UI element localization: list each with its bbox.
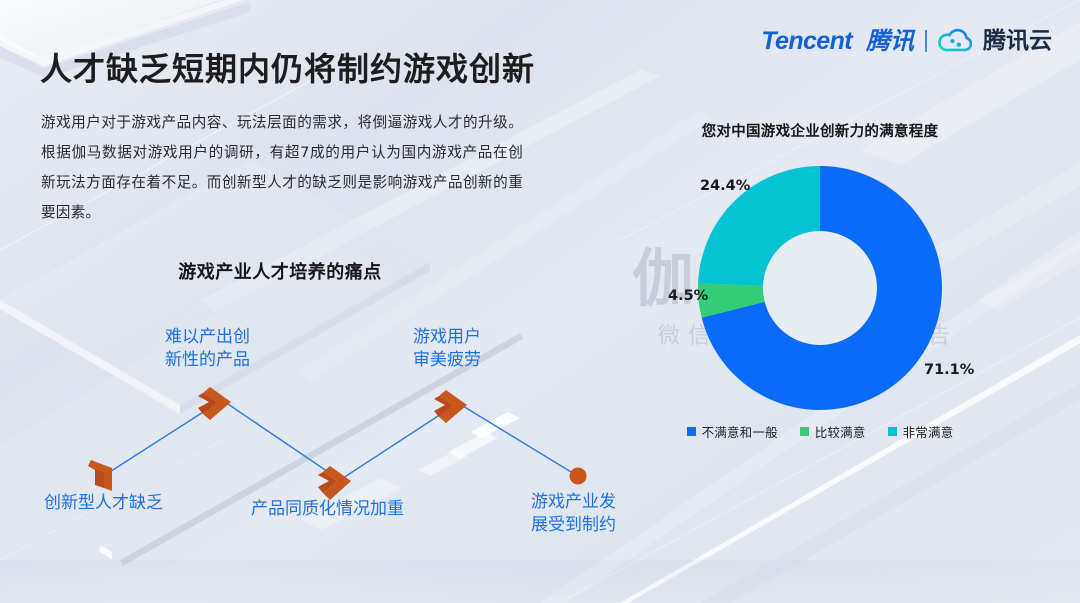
donut-value-label-1: 71.1%	[924, 362, 974, 378]
donut-value-label-3: 24.4%	[700, 178, 750, 194]
cloud-icon-svg	[938, 28, 972, 54]
tencent-cloud-wordmark-cn: 腾讯云	[983, 30, 1052, 53]
flow-node-marker-1	[88, 460, 112, 491]
brand-logo-bar: Tencent 腾讯 腾讯云	[761, 26, 1052, 56]
legend-label: 非常满意	[903, 422, 954, 441]
article-body: 游戏用户对于游戏产品内容、玩法层面的需求，将倒逼游戏人才的升级。根据伽马数据对游…	[41, 108, 523, 228]
tencent-wordmark-cn: 腾讯	[866, 29, 914, 53]
donut-hole	[763, 231, 877, 345]
flow-label-2: 难以产出创 新性的产品	[165, 326, 250, 372]
cloud-icon	[938, 28, 972, 54]
legend-item[interactable]: 非常满意	[888, 422, 954, 441]
flow-diagram-title: 游戏产业人才培养的痛点	[0, 258, 560, 284]
flow-node-marker-5	[570, 468, 587, 485]
flow-label-3: 产品同质化情况加重	[251, 498, 404, 521]
flow-node-marker-4	[434, 390, 467, 423]
logo-divider	[925, 30, 927, 52]
legend-item[interactable]: 不满意和一般	[687, 422, 778, 441]
tencent-wordmark: Tencent	[761, 29, 852, 54]
legend-label: 不满意和一般	[702, 422, 778, 441]
slide-root: Tencent 腾讯 腾讯云 人才缺乏短期内仍将制约游戏创新 游戏用户对于游戏产…	[0, 0, 1080, 603]
page-title: 人才缺乏短期内仍将制约游戏创新	[40, 44, 535, 90]
legend-swatch-icon	[800, 427, 809, 436]
legend-item[interactable]: 比较满意	[800, 422, 866, 441]
donut-value-label-2: 4.5%	[668, 288, 708, 304]
chart-title: 您对中国游戏企业创新力的满意程度	[600, 120, 1040, 141]
flow-node-marker-2	[198, 387, 231, 420]
flow-label-4: 游戏用户 审美疲劳	[413, 326, 481, 372]
flow-label-1: 创新型人才缺乏	[44, 492, 163, 515]
flow-node-marker-3	[318, 466, 351, 500]
donut-chart	[690, 158, 950, 418]
chart-legend: 不满意和一般比较满意非常满意	[600, 422, 1040, 441]
flow-label-5: 游戏产业发 展受到制约	[531, 491, 616, 537]
legend-label: 比较满意	[815, 422, 866, 441]
legend-swatch-icon	[888, 427, 897, 436]
legend-swatch-icon	[687, 427, 696, 436]
